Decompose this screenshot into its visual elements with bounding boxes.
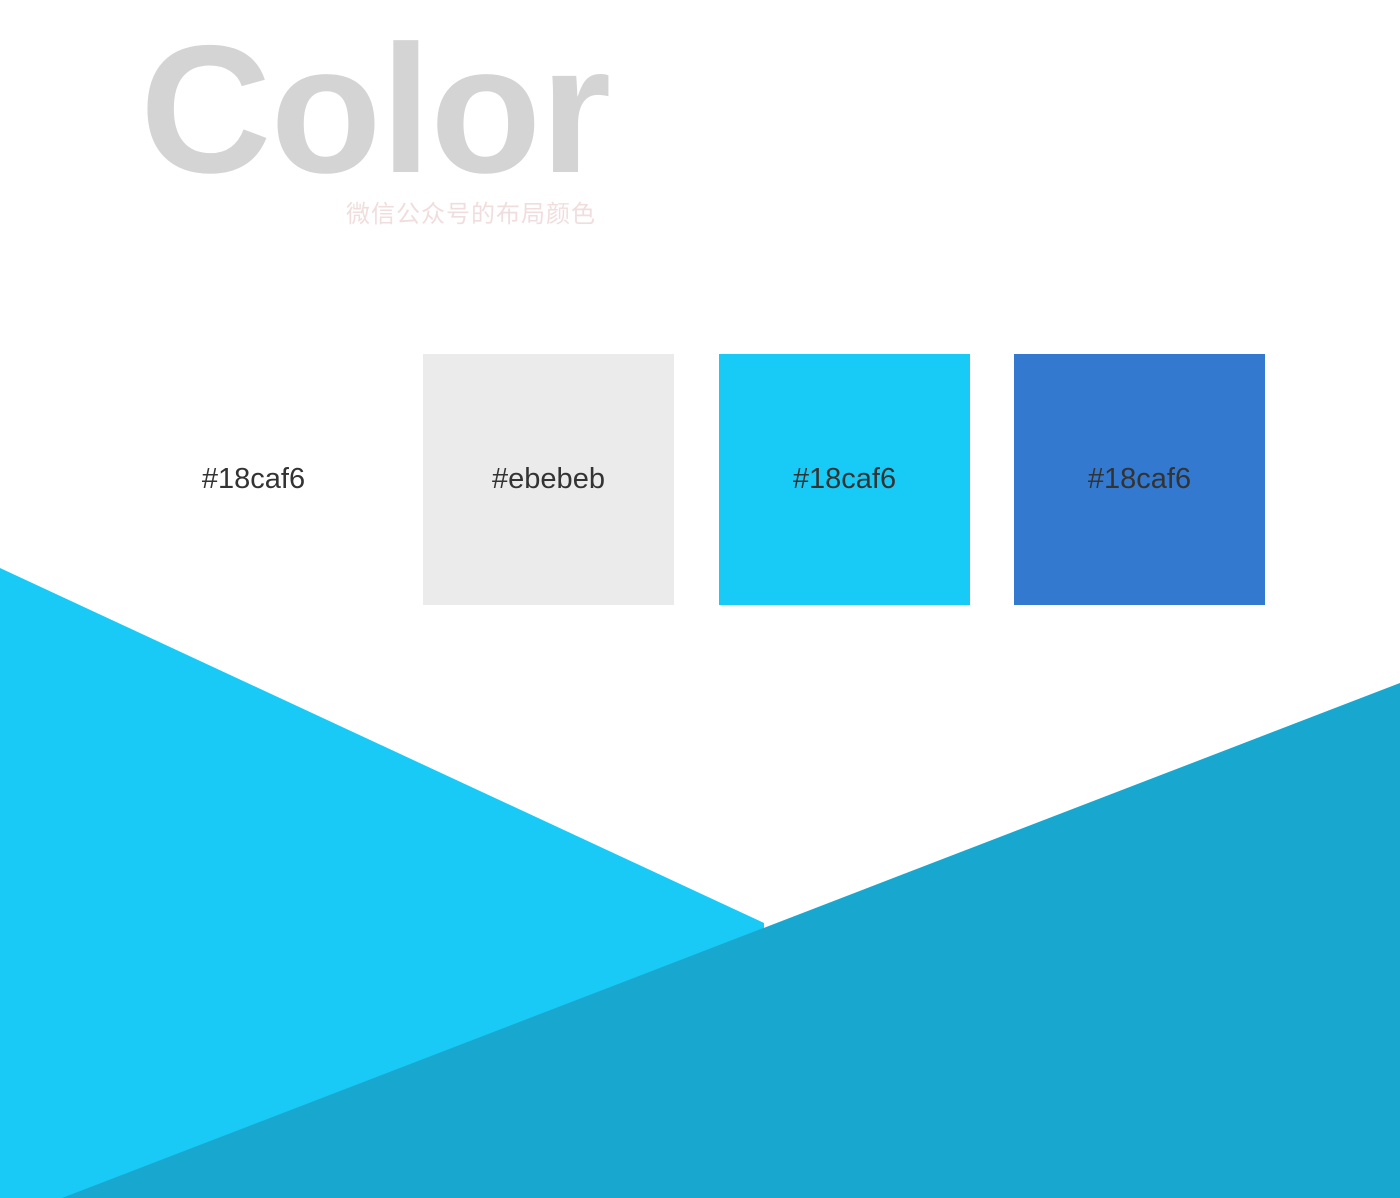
page-subtitle: 微信公众号的布局颜色 [346,203,596,227]
page-title: Color [140,18,610,200]
color-swatch-label-0: #18caf6 [202,465,305,494]
color-swatch-label-2: #18caf6 [793,465,896,494]
light-cyan-wedge-shape [0,568,764,1198]
color-swatch-label-3: #18caf6 [1088,465,1191,494]
color-swatch-1[interactable]: #ebebeb [423,354,674,605]
color-swatch-3[interactable]: #18caf6 [1014,354,1265,605]
color-swatch-0[interactable]: #18caf6 [128,354,379,605]
color-swatch-2[interactable]: #18caf6 [719,354,970,605]
color-swatch-row: #18caf6 #ebebeb #18caf6 #18caf6 [0,354,1400,606]
color-swatch-label-1: #ebebeb [492,465,605,494]
poster-canvas: Color 微信公众号的布局颜色 #18caf6 #ebebeb #18caf6… [0,0,1400,1198]
teal-wedge-shape [62,683,1400,1198]
